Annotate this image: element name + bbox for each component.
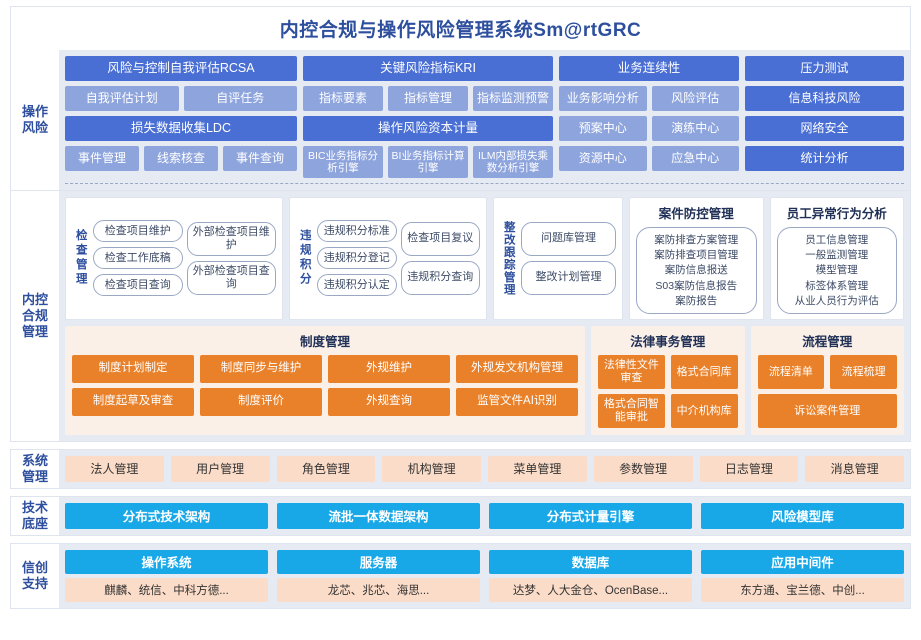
- xc-col-database: 数据库 达梦、人大金仓、OcenBase...: [489, 550, 692, 602]
- xc-col-middleware: 应用中间件 东方通、宝兰德、中创...: [701, 550, 904, 602]
- card-inspection-management: 检查管理 检查项目维护 检查工作底稿 检查项目查询 外部检查项目维护 外部检查项…: [65, 197, 283, 320]
- btn-org-mgmt[interactable]: 机构管理: [382, 456, 481, 482]
- band-system-management: 系统 管理 法人管理 用户管理 角色管理 机构管理 菜单管理 参数管理 日志管理…: [10, 449, 911, 489]
- list-item: 案防报告: [675, 294, 717, 308]
- col-business-continuity: 业务连续性 业务影响分析 风险评估 预案中心 演练中心 资源中心 应急中心: [559, 56, 739, 178]
- pill-inspection-reconsideration[interactable]: 检查项目复议: [401, 222, 481, 256]
- list-item: 案防排查方案管理: [654, 233, 738, 247]
- card-title-policy-management: 制度管理: [72, 331, 578, 350]
- band-label-system-management: 系统 管理: [11, 450, 59, 488]
- label-os-vendors: 麒麟、统信、中科方德...: [65, 578, 268, 602]
- band-label-tech-base: 技术 底座: [11, 497, 59, 535]
- pill-violation-standard[interactable]: 违规积分标准: [317, 220, 397, 242]
- band-body-xinchuang-support: 操作系统 麒麟、统信、中科方德... 服务器 龙芯、兆芯、海思... 数据库 达…: [59, 544, 910, 608]
- band-label-line2: 底座: [22, 516, 48, 531]
- label-server-vendors: 龙芯、兆芯、海思...: [277, 578, 480, 602]
- btn-log-mgmt[interactable]: 日志管理: [700, 456, 799, 482]
- module-event-management[interactable]: 事件管理: [65, 146, 139, 171]
- pill-list-case-prevention[interactable]: 案防排查方案管理 案防排查项目管理 案防信息报送 S03案防信息报告 案防报告: [636, 227, 757, 314]
- col-kri: 关键风险指标KRI 指标要素 指标管理 指标监测预警 操作风险资本计量 BIC业…: [303, 56, 553, 178]
- pill-violation-registration[interactable]: 违规积分登记: [317, 247, 397, 269]
- btn-external-reg-query[interactable]: 外规查询: [328, 388, 450, 416]
- module-indicator-monitoring[interactable]: 指标监测预警: [473, 86, 553, 111]
- module-stress-test[interactable]: 压力测试: [745, 56, 904, 81]
- pill-list-employee-behavior[interactable]: 员工信息管理 一般监测管理 模型管理 标签体系管理 从业人员行为评估: [777, 227, 898, 314]
- module-bic-engine[interactable]: BIC业务指标分析引擎: [303, 146, 383, 178]
- btn-policy-plan[interactable]: 制度计划制定: [72, 355, 194, 383]
- btn-process-list[interactable]: 流程清单: [758, 355, 825, 389]
- btn-legal-entity-mgmt[interactable]: 法人管理: [65, 456, 164, 482]
- pill-external-inspection-maintenance[interactable]: 外部检查项目维护: [187, 222, 277, 256]
- btn-external-reg-issuer-mgmt[interactable]: 外规发文机构管理: [456, 355, 578, 383]
- band-xinchuang-support: 信创 支持 操作系统 麒麟、统信、中科方德... 服务器 龙芯、兆芯、海思...…: [10, 543, 911, 609]
- page-title: 内控合规与操作风险管理系统Sm@rtGRC: [280, 15, 642, 42]
- module-indicator-management[interactable]: 指标管理: [388, 86, 468, 111]
- module-business-impact-analysis[interactable]: 业务影响分析: [559, 86, 647, 111]
- card-process-management: 流程管理 流程清单 流程梳理 诉讼案件管理: [751, 326, 905, 435]
- card-case-prevention: 案件防控管理 案防排查方案管理 案防排查项目管理 案防信息报送 S03案防信息报…: [629, 197, 764, 320]
- module-ldc[interactable]: 损失数据收集LDC: [65, 116, 297, 141]
- module-emergency-center[interactable]: 应急中心: [652, 146, 740, 171]
- band-label-line2: 风险: [22, 120, 48, 135]
- col-rcsa: 风险与控制自我评估RCSA 自我评估计划 自评任务 损失数据收集LDC 事件管理…: [65, 56, 297, 178]
- btn-stream-batch-data-arch[interactable]: 流批一体数据架构: [277, 503, 480, 529]
- pill-issue-library[interactable]: 问题库管理: [521, 222, 616, 256]
- band-operational-risk: 操作 风险 风险与控制自我评估RCSA 自我评估计划 自评任务 损失数据收集LD…: [10, 50, 911, 191]
- btn-litigation-case-mgmt[interactable]: 诉讼案件管理: [758, 394, 898, 428]
- module-kri[interactable]: 关键风险指标KRI: [303, 56, 553, 81]
- card-employee-behavior: 员工异常行为分析 员工信息管理 一般监测管理 模型管理 标签体系管理 从业人员行…: [770, 197, 905, 320]
- card-label-inspection-management: 检查管理: [72, 229, 88, 287]
- section-divider: [65, 183, 904, 184]
- module-risk-assessment[interactable]: 风险评估: [652, 86, 740, 111]
- btn-standard-contract-library[interactable]: 格式合同库: [671, 355, 738, 389]
- card-title-legal-affairs: 法律事务管理: [598, 331, 738, 350]
- module-self-assessment-plan[interactable]: 自我评估计划: [65, 86, 179, 111]
- band-label-operational-risk: 操作 风险: [11, 50, 59, 190]
- band-label-line2: 管理: [22, 469, 48, 484]
- band-body-system-management: 法人管理 用户管理 角色管理 机构管理 菜单管理 参数管理 日志管理 消息管理: [59, 450, 910, 488]
- module-plan-center[interactable]: 预案中心: [559, 116, 647, 141]
- band-label-line1: 信创: [22, 560, 48, 575]
- list-item: 案防信息报送: [665, 263, 728, 277]
- band-label-line1: 系统: [22, 453, 48, 468]
- list-item: S03案防信息报告: [655, 279, 737, 293]
- band-label-xinchuang-support: 信创 支持: [11, 544, 59, 608]
- card-label-rectification-tracking: 整改跟踪管理: [500, 221, 516, 296]
- band-body-tech-base: 分布式技术架构 流批一体数据架构 分布式计量引擎 风险模型库: [59, 497, 910, 535]
- btn-database[interactable]: 数据库: [489, 550, 692, 574]
- module-business-continuity[interactable]: 业务连续性: [559, 56, 739, 81]
- pill-violation-determination[interactable]: 违规积分认定: [317, 274, 397, 296]
- col-stress-test: 压力测试 信息科技风险 网络安全 统计分析: [745, 56, 904, 178]
- btn-operating-system[interactable]: 操作系统: [65, 550, 268, 574]
- list-item: 员工信息管理: [805, 233, 868, 247]
- band-tech-base: 技术 底座 分布式技术架构 流批一体数据架构 分布式计量引擎 风险模型库: [10, 496, 911, 536]
- btn-app-middleware[interactable]: 应用中间件: [701, 550, 904, 574]
- list-item: 标签体系管理: [805, 279, 868, 293]
- list-item: 模型管理: [816, 263, 858, 277]
- pill-inspection-item-query[interactable]: 检查项目查询: [93, 274, 183, 296]
- band-label-line1: 技术: [22, 500, 48, 515]
- btn-policy-sync-maintain[interactable]: 制度同步与维护: [200, 355, 322, 383]
- pill-inspection-workpaper[interactable]: 检查工作底稿: [93, 247, 183, 269]
- band-label-line3: 管理: [22, 324, 48, 339]
- module-indicator-element[interactable]: 指标要素: [303, 86, 383, 111]
- btn-legal-doc-review[interactable]: 法律性文件审查: [598, 355, 665, 389]
- btn-risk-model-library[interactable]: 风险模型库: [701, 503, 904, 529]
- band-label-line2: 合规: [22, 308, 48, 323]
- btn-message-mgmt[interactable]: 消息管理: [805, 456, 904, 482]
- xc-col-server: 服务器 龙芯、兆芯、海思...: [277, 550, 480, 602]
- btn-policy-evaluation[interactable]: 制度评价: [200, 388, 322, 416]
- module-resource-center[interactable]: 资源中心: [559, 146, 647, 171]
- card-title-employee-behavior: 员工异常行为分析: [777, 203, 898, 222]
- label-middleware-vendors: 东方通、宝兰德、中创...: [701, 578, 904, 602]
- list-item: 从业人员行为评估: [795, 294, 879, 308]
- btn-process-combing[interactable]: 流程梳理: [830, 355, 897, 389]
- band-internal-control: 内控 合规 管理 检查管理 检查项目维护 检查工作底稿 检查项目查询 外部检查项…: [10, 190, 911, 442]
- card-title-process-management: 流程管理: [758, 331, 898, 350]
- btn-contract-smart-approval[interactable]: 格式合同智能审批: [598, 394, 665, 428]
- btn-policy-draft-review[interactable]: 制度起草及审查: [72, 388, 194, 416]
- pill-inspection-item-maintenance[interactable]: 检查项目维护: [93, 220, 183, 242]
- module-rcsa[interactable]: 风险与控制自我评估RCSA: [65, 56, 297, 81]
- band-body-operational-risk: 风险与控制自我评估RCSA 自我评估计划 自评任务 损失数据收集LDC 事件管理…: [59, 50, 910, 190]
- btn-intermediary-library[interactable]: 中介机构库: [671, 394, 738, 428]
- list-item: 一般监测管理: [805, 248, 868, 262]
- card-legal-affairs: 法律事务管理 法律性文件审查 格式合同库 格式合同智能审批 中介机构库: [591, 326, 745, 435]
- module-it-risk[interactable]: 信息科技风险: [745, 86, 904, 111]
- module-drill-center[interactable]: 演练中心: [652, 116, 740, 141]
- card-policy-management: 制度管理 制度计划制定 制度同步与维护 外规维护 外规发文机构管理 制度起草及审…: [65, 326, 585, 435]
- pill-external-inspection-query[interactable]: 外部检查项目查询: [187, 261, 277, 295]
- btn-distributed-calc-engine[interactable]: 分布式计量引擎: [489, 503, 692, 529]
- btn-param-mgmt[interactable]: 参数管理: [594, 456, 693, 482]
- btn-regulatory-ai-recognition[interactable]: 监管文件AI识别: [456, 388, 578, 416]
- card-label-violation-points: 违规积分: [296, 229, 312, 287]
- list-item: 案防排查项目管理: [654, 248, 738, 262]
- module-op-risk-capital[interactable]: 操作风险资本计量: [303, 116, 553, 141]
- module-ilm-engine[interactable]: ILM内部损失乘数分析引擎: [473, 146, 553, 178]
- band-label-line1: 内控: [22, 292, 48, 307]
- card-rectification-tracking: 整改跟踪管理 问题库管理 整改计划管理: [493, 197, 623, 320]
- module-network-security[interactable]: 网络安全: [745, 116, 904, 141]
- btn-user-mgmt[interactable]: 用户管理: [171, 456, 270, 482]
- band-label-internal-control: 内控 合规 管理: [11, 191, 59, 441]
- btn-server[interactable]: 服务器: [277, 550, 480, 574]
- title-bar: 内控合规与操作风险管理系统Sm@rtGRC: [10, 6, 911, 50]
- module-clue-verification[interactable]: 线索核查: [144, 146, 218, 171]
- pill-violation-query[interactable]: 违规积分查询: [401, 261, 481, 295]
- pill-rectification-plan[interactable]: 整改计划管理: [521, 261, 616, 295]
- btn-distributed-tech-arch[interactable]: 分布式技术架构: [65, 503, 268, 529]
- module-event-query[interactable]: 事件查询: [223, 146, 297, 171]
- module-statistics-analysis[interactable]: 统计分析: [745, 146, 904, 171]
- btn-role-mgmt[interactable]: 角色管理: [277, 456, 376, 482]
- btn-external-reg-maintenance[interactable]: 外规维护: [328, 355, 450, 383]
- band-label-line2: 支持: [22, 576, 48, 591]
- system-architecture-diagram: 内控合规与操作风险管理系统Sm@rtGRC 操作 风险 风险与控制自我评估RCS…: [0, 0, 921, 640]
- band-body-internal-control: 检查管理 检查项目维护 检查工作底稿 检查项目查询 外部检查项目维护 外部检查项…: [59, 191, 910, 441]
- module-bi-engine[interactable]: BI业务指标计算引擎: [388, 146, 468, 178]
- xc-col-os: 操作系统 麒麟、统信、中科方德...: [65, 550, 268, 602]
- label-database-vendors: 达梦、人大金仓、OcenBase...: [489, 578, 692, 602]
- module-self-assessment-task[interactable]: 自评任务: [184, 86, 298, 111]
- band-label-line1: 操作: [22, 104, 48, 119]
- card-title-case-prevention: 案件防控管理: [636, 203, 757, 222]
- card-violation-points: 违规积分 违规积分标准 违规积分登记 违规积分认定 检查项目复议 违规积分查询: [289, 197, 487, 320]
- btn-menu-mgmt[interactable]: 菜单管理: [488, 456, 587, 482]
